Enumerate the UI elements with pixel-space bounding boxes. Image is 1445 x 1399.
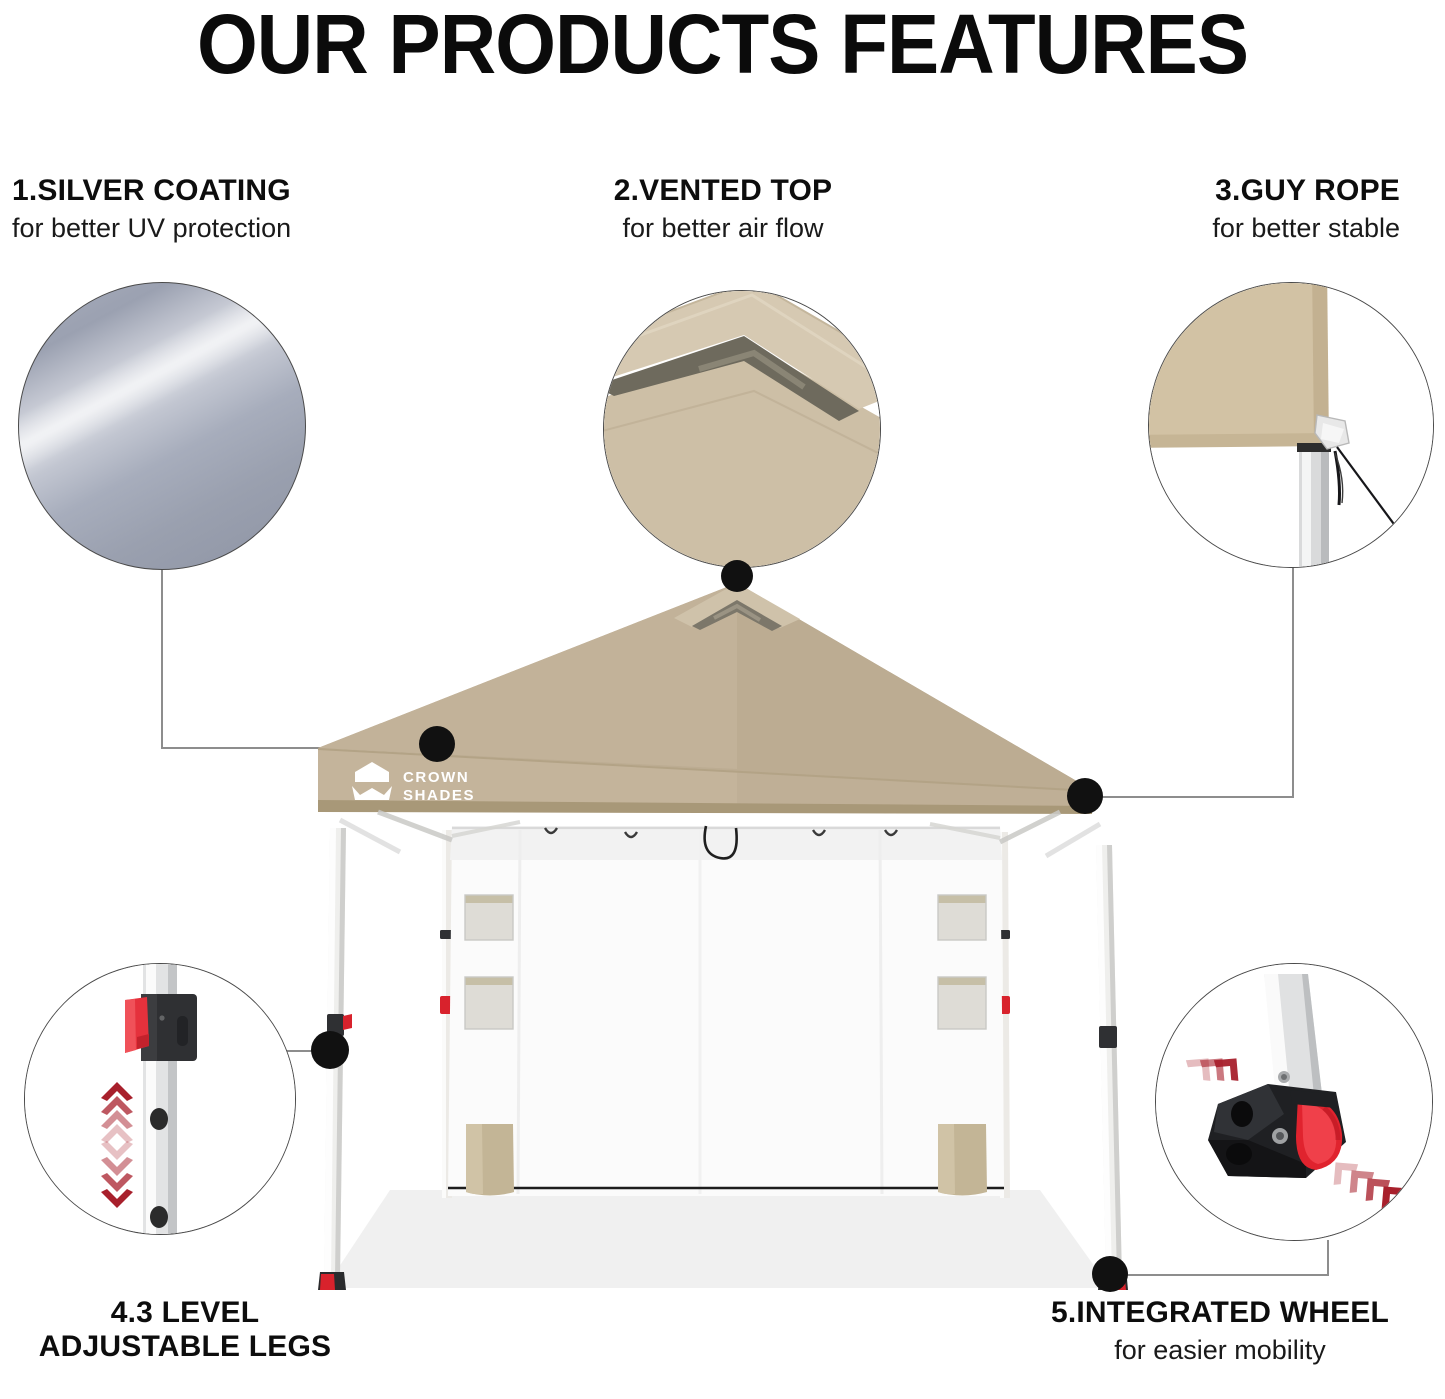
marker-adjustable-legs: [311, 1031, 349, 1069]
sandbag-pocket-right: [938, 1124, 987, 1196]
mesh-window-left-upper: [465, 895, 513, 940]
sidewall: [448, 826, 1004, 1196]
mesh-window-left-lower: [465, 977, 513, 1029]
brand-logo-line2: SHADES: [403, 787, 475, 804]
marker-silver-coating: [419, 726, 455, 762]
marker-integrated-wheel: [1092, 1256, 1128, 1292]
leg-front-right: [1096, 845, 1128, 1290]
sandbag-pocket-left: [466, 1124, 514, 1196]
marker-guy-rope: [1067, 778, 1103, 814]
mesh-window-right-upper: [938, 895, 986, 940]
infographic-page: OUR PRODUCTS FEATURES 1.SILVER COATING f…: [0, 0, 1445, 1399]
marker-vented-top: [721, 560, 753, 592]
mesh-window-right-lower: [938, 977, 986, 1029]
brand-logo-line1: CROWN: [403, 769, 469, 786]
product-illustration: CROWN SHADES: [0, 0, 1445, 1399]
ground-shadow: [325, 1190, 1110, 1288]
